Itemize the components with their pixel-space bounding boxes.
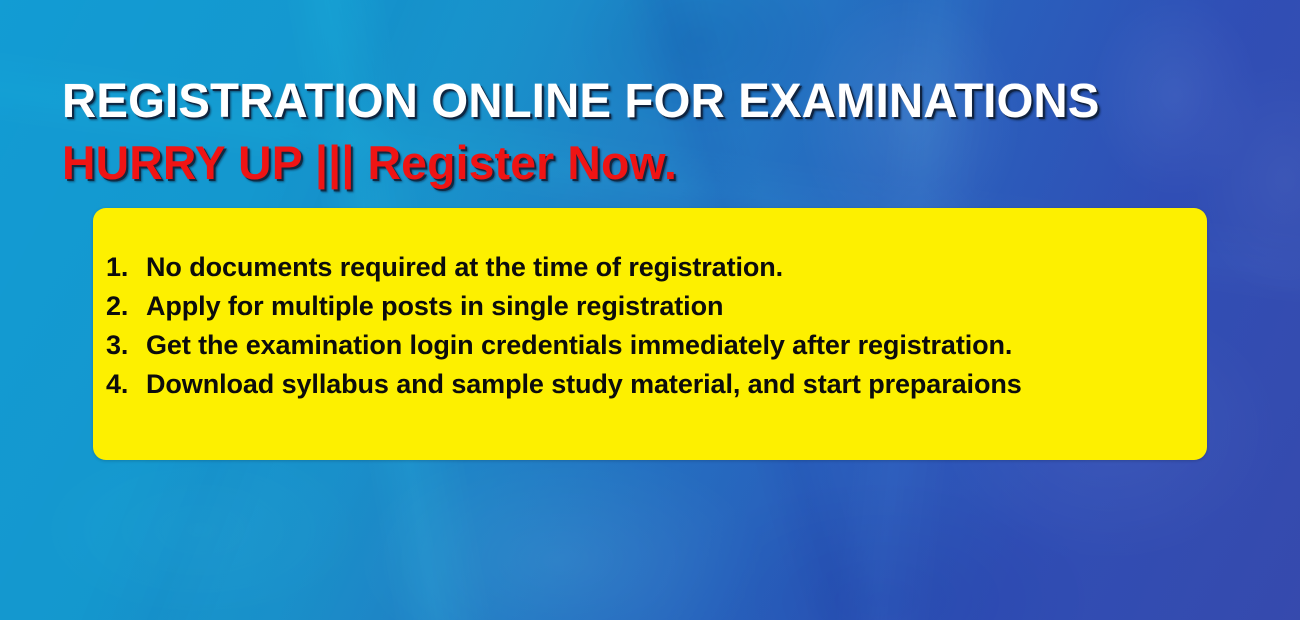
notice-list-item: 4. Download syllabus and sample study ma… <box>106 365 1193 404</box>
headline-primary: REGISTRATION ONLINE FOR EXAMINATIONS <box>62 76 1224 128</box>
promo-banner: REGISTRATION ONLINE FOR EXAMINATIONS HUR… <box>0 0 1300 620</box>
notice-item-text: Apply for multiple posts in single regis… <box>146 287 723 326</box>
headline-secondary-call-to-action: HURRY UP ||| Register Now. <box>62 138 1224 188</box>
notice-list-item: 2. Apply for multiple posts in single re… <box>106 287 1193 326</box>
notice-list-item: 1. No documents required at the time of … <box>106 248 1193 287</box>
notice-item-number: 2. <box>106 287 146 326</box>
notice-item-number: 4. <box>106 365 146 404</box>
notice-item-text: Get the examination login credentials im… <box>146 326 1012 365</box>
notice-item-number: 3. <box>106 326 146 365</box>
notice-panel: 1. No documents required at the time of … <box>93 208 1207 460</box>
notice-list-item: 3. Get the examination login credentials… <box>106 326 1193 365</box>
notice-item-text: Download syllabus and sample study mater… <box>146 365 1022 404</box>
headline-block: REGISTRATION ONLINE FOR EXAMINATIONS HUR… <box>62 76 1242 188</box>
notice-item-number: 1. <box>106 248 146 287</box>
notice-list: 1. No documents required at the time of … <box>106 248 1193 404</box>
banner-content: REGISTRATION ONLINE FOR EXAMINATIONS HUR… <box>0 0 1300 620</box>
notice-item-text: No documents required at the time of reg… <box>146 248 783 287</box>
